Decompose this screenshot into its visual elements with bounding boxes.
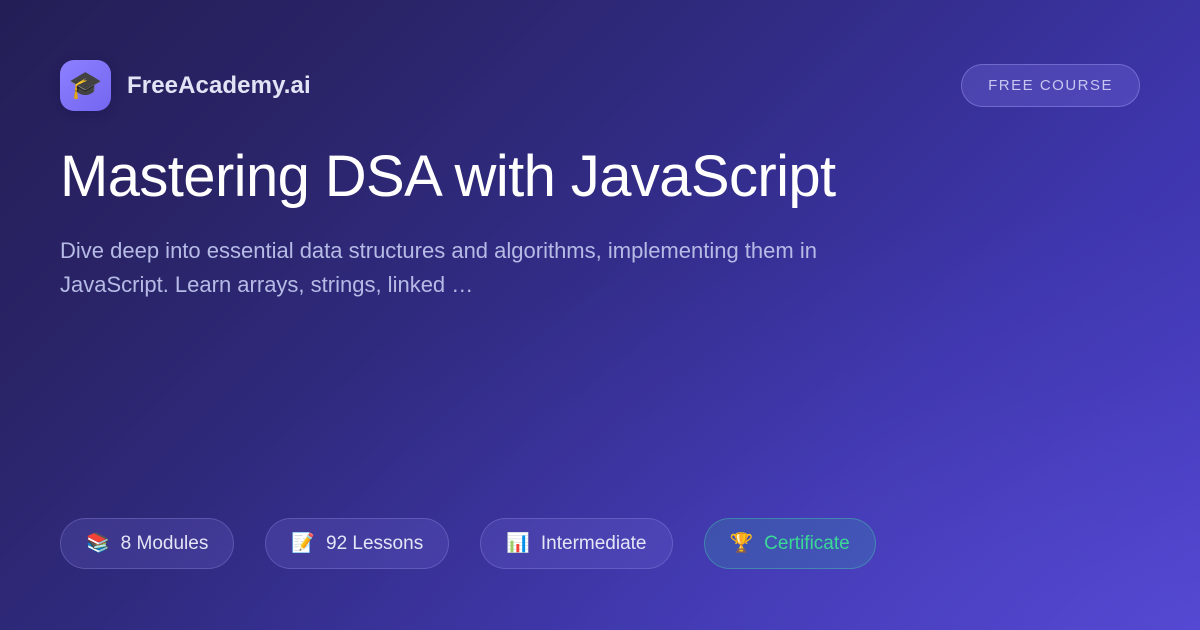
stat-pill-certificate: 🏆 Certificate bbox=[704, 518, 876, 569]
bar-chart-icon: 📊 bbox=[506, 534, 530, 553]
stat-label-certificate: Certificate bbox=[764, 533, 850, 555]
course-title: Mastering DSA with JavaScript bbox=[60, 146, 960, 207]
brand[interactable]: 🎓 FreeAcademy.ai bbox=[60, 60, 311, 111]
stat-pill-lessons: 📝 92 Lessons bbox=[265, 518, 449, 569]
free-course-badge: FREE COURSE bbox=[961, 64, 1140, 107]
brand-name: FreeAcademy.ai bbox=[127, 72, 311, 100]
card-header: 🎓 FreeAcademy.ai FREE COURSE bbox=[60, 60, 1140, 111]
stat-label-modules: 8 Modules bbox=[121, 533, 209, 555]
books-icon: 📚 bbox=[86, 534, 110, 553]
stat-label-lessons: 92 Lessons bbox=[326, 533, 423, 555]
stat-pill-modules: 📚 8 Modules bbox=[60, 518, 234, 569]
memo-icon: 📝 bbox=[291, 534, 315, 553]
course-description: Dive deep into essential data structures… bbox=[60, 234, 875, 302]
course-stats: 📚 8 Modules 📝 92 Lessons 📊 Intermediate … bbox=[60, 518, 876, 569]
card-content: Mastering DSA with JavaScript Dive deep … bbox=[60, 146, 960, 302]
stat-pill-level: 📊 Intermediate bbox=[480, 518, 672, 569]
course-og-card: 🎓 FreeAcademy.ai FREE COURSE Mastering D… bbox=[0, 0, 1200, 630]
graduation-cap-icon: 🎓 bbox=[60, 60, 111, 111]
trophy-icon: 🏆 bbox=[730, 534, 754, 553]
stat-label-level: Intermediate bbox=[541, 533, 647, 555]
